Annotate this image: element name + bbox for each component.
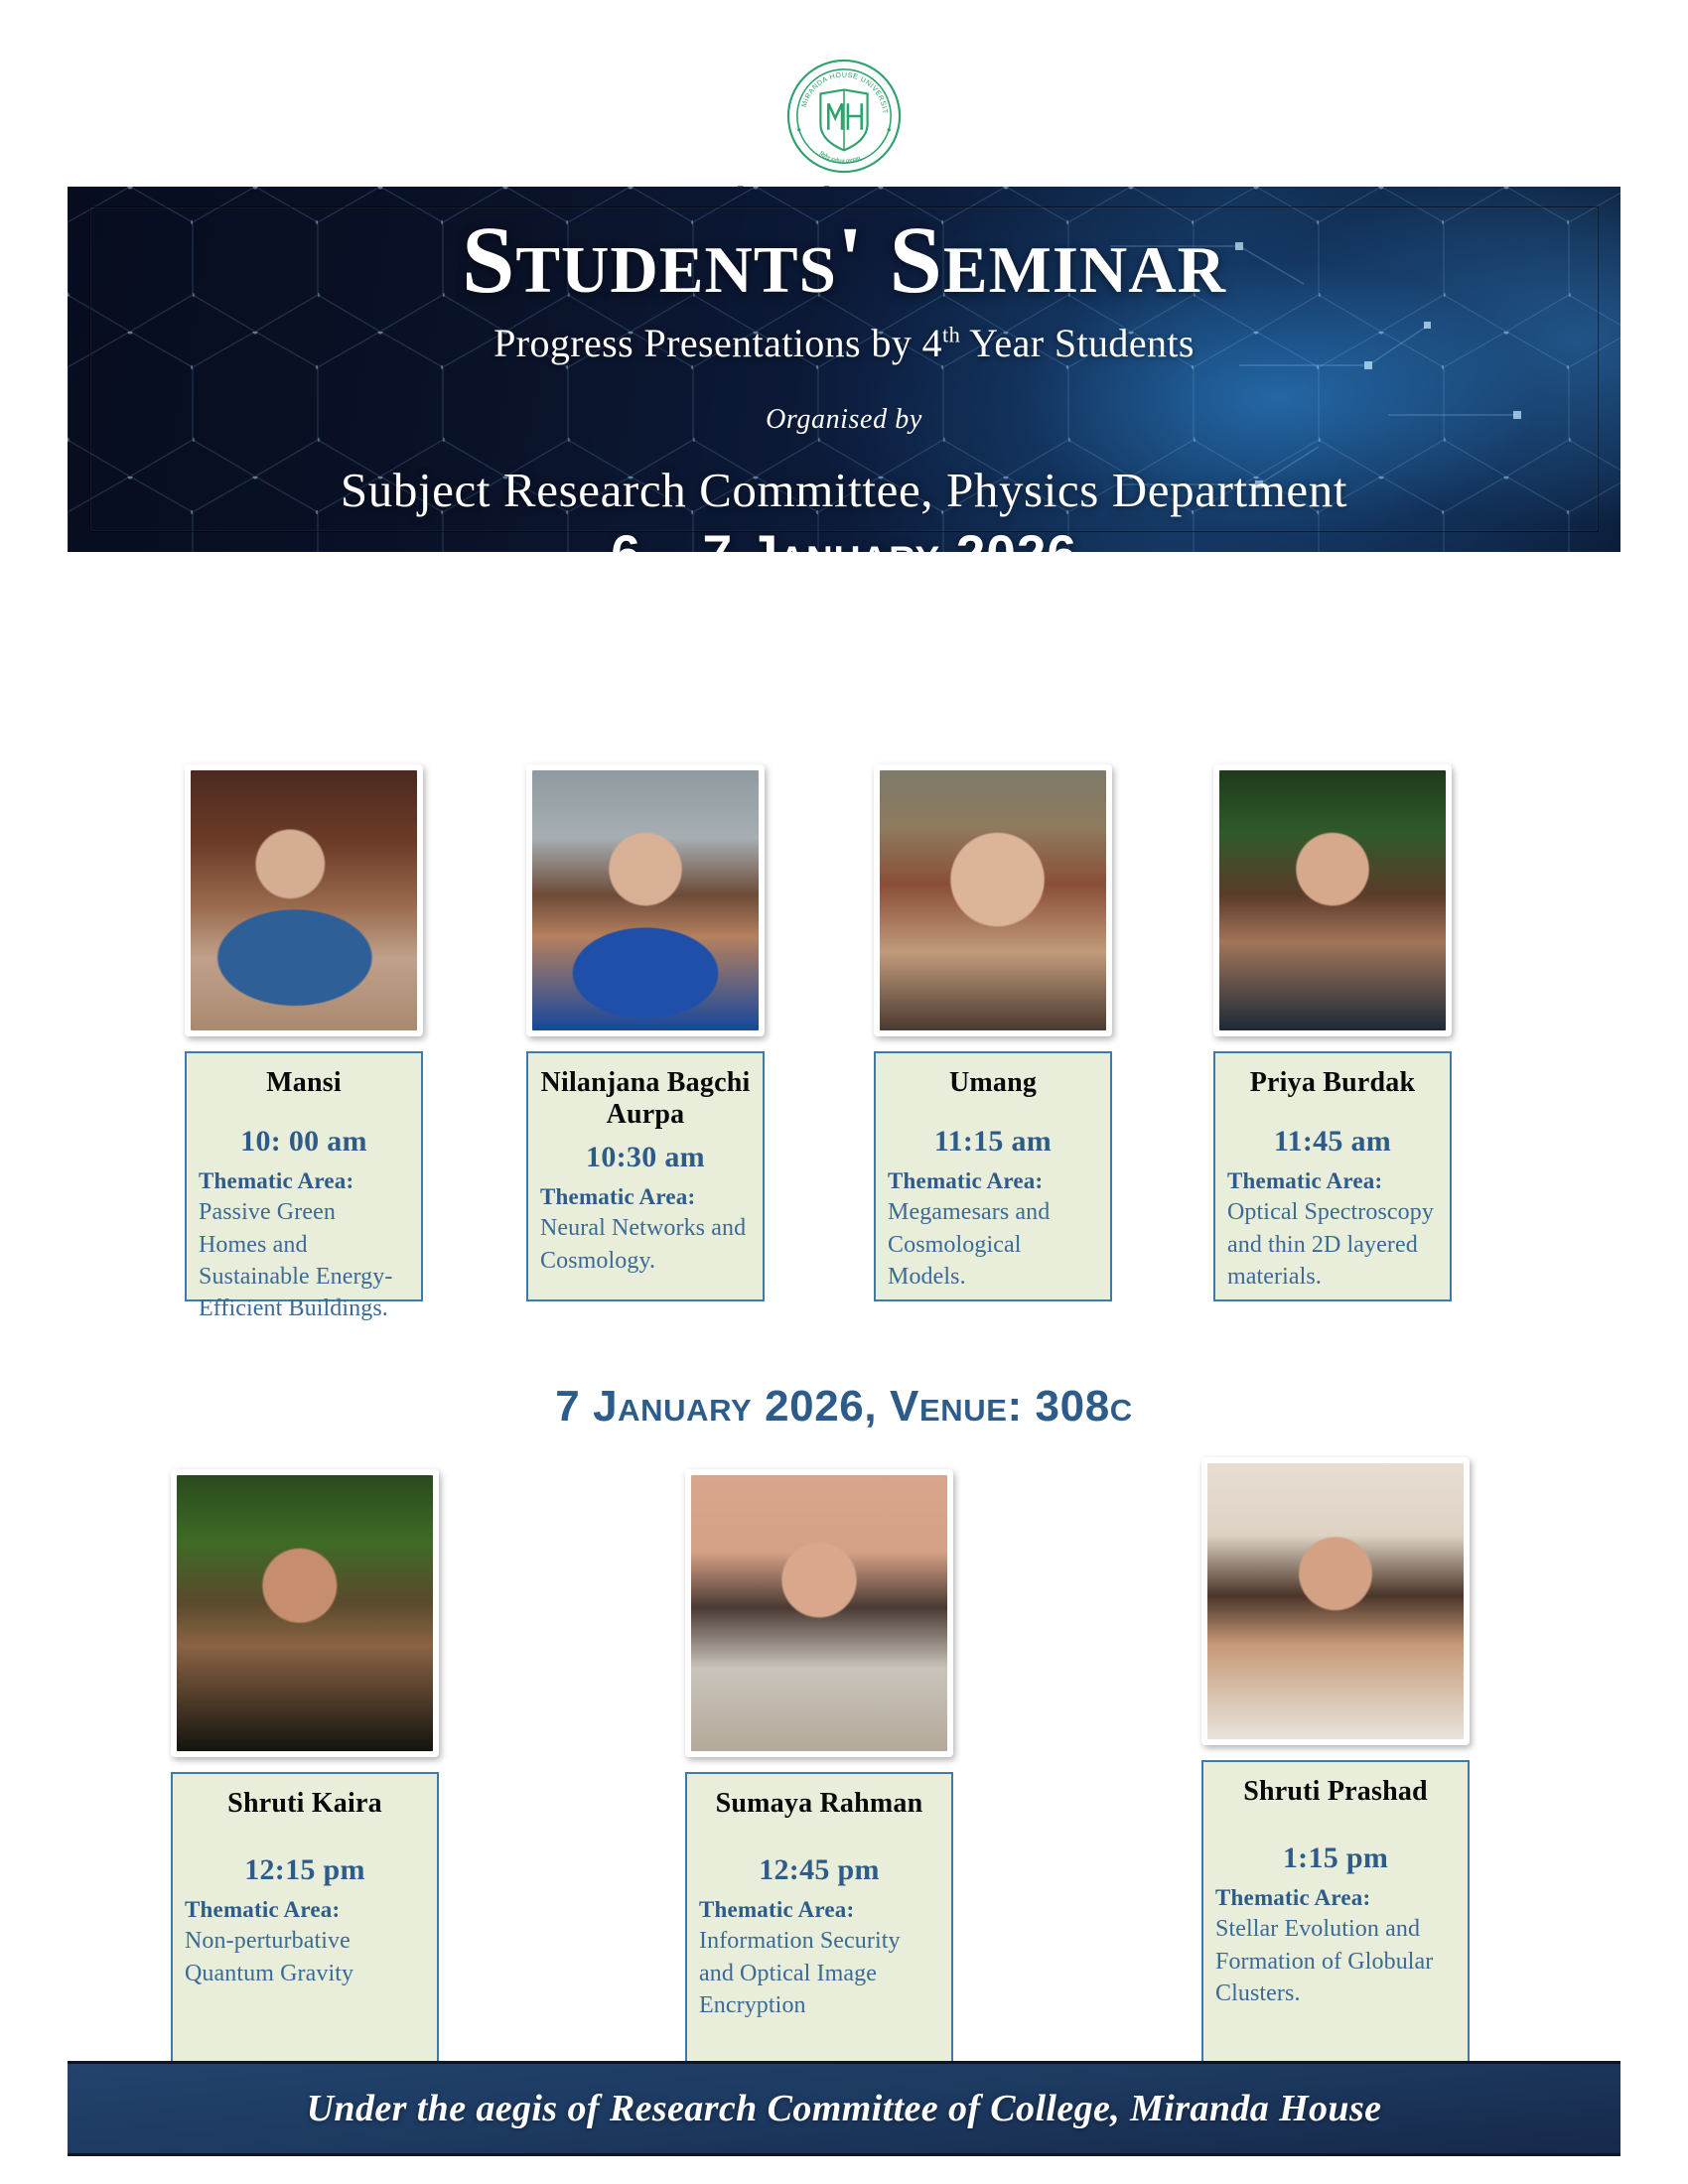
- thematic-area-label: Thematic Area:: [199, 1168, 409, 1194]
- title-banner: Students' Seminar Progress Presentations…: [68, 187, 1620, 552]
- speaker-time: 10: 00 am: [199, 1125, 409, 1159]
- speaker-info-card: Umang 11:15 am Thematic Area: Megamesars…: [874, 1051, 1112, 1301]
- speaker-photo: [880, 770, 1106, 1030]
- speaker-slot-priya: Priya Burdak 11:45 am Thematic Area: Opt…: [1213, 764, 1452, 1301]
- speaker-slot-shruti-prashad: Shruti Prashad 1:15 pm Thematic Area: St…: [1201, 1457, 1470, 2064]
- speaker-photo: [691, 1475, 947, 1751]
- thematic-area-label: Thematic Area:: [1215, 1885, 1456, 1911]
- poster-footer: Under the aegis of Research Committee of…: [68, 2061, 1620, 2156]
- speaker-slot-sumaya: Sumaya Rahman 12:45 pm Thematic Area: In…: [685, 1469, 953, 2076]
- subtitle-ordinal: th: [942, 323, 960, 347]
- speaker-name: Shruti Prashad: [1215, 1776, 1456, 1808]
- thematic-area-text: Neural Networks and Cosmology.: [540, 1212, 751, 1277]
- speaker-info-card: Priya Burdak 11:45 am Thematic Area: Opt…: [1213, 1051, 1452, 1301]
- thematic-area-text: Optical Spectroscopy and thin 2D layered…: [1227, 1196, 1438, 1293]
- speaker-photo: [191, 770, 417, 1030]
- photo-frame: [1213, 764, 1452, 1036]
- speaker-name: Shruti Kaira: [185, 1788, 425, 1820]
- svg-text:MIRANDA HOUSE UNIVERSITY OF DE: MIRANDA HOUSE UNIVERSITY OF DELHI: [785, 58, 889, 114]
- speaker-time: 12:45 pm: [699, 1853, 939, 1887]
- day2-heading: 7 January 2026, Venue: 308c: [0, 1382, 1688, 1432]
- thematic-area-label: Thematic Area:: [185, 1897, 425, 1923]
- speaker-info-card: Shruti Prashad 1:15 pm Thematic Area: St…: [1201, 1760, 1470, 2064]
- thematic-area-text: Non-perturbative Quantum Gravity: [185, 1925, 425, 1989]
- speaker-time: 1:15 pm: [1215, 1842, 1456, 1875]
- speaker-info-card: Mansi 10: 00 am Thematic Area: Passive G…: [185, 1051, 423, 1301]
- photo-frame: [1201, 1457, 1470, 1745]
- speaker-info-card: Nilanjana Bagchi Aurpa 10:30 am Thematic…: [526, 1051, 765, 1301]
- speaker-name: Sumaya Rahman: [699, 1788, 939, 1820]
- speaker-name: Priya Burdak: [1227, 1067, 1438, 1099]
- speaker-time: 12:15 pm: [185, 1853, 425, 1887]
- speaker-photo: [177, 1475, 433, 1751]
- footer-text: Under the aegis of Research Committee of…: [307, 2087, 1382, 2130]
- speaker-slot-shruti-kaira: Shruti Kaira 12:15 pm Thematic Area: Non…: [171, 1469, 439, 2076]
- thematic-area-text: Passive Green Homes and Sustainable Ener…: [199, 1196, 409, 1325]
- photo-frame: [171, 1469, 439, 1757]
- speaker-slot-mansi: Mansi 10: 00 am Thematic Area: Passive G…: [185, 764, 423, 1301]
- speaker-name: Nilanjana Bagchi Aurpa: [540, 1067, 751, 1131]
- speaker-time: 11:15 am: [888, 1125, 1098, 1159]
- event-dates: 6 – 7 January 2026: [68, 524, 1620, 552]
- speaker-info-card: Sumaya Rahman 12:45 pm Thematic Area: In…: [685, 1772, 953, 2076]
- seminar-subtitle: Progress Presentations by 4th Year Stude…: [68, 320, 1620, 366]
- speaker-name: Mansi: [199, 1067, 409, 1099]
- thematic-area-text: Stellar Evolution and Formation of Globu…: [1215, 1913, 1456, 2009]
- subtitle-suffix: Year Students: [960, 321, 1195, 365]
- speaker-time: 11:45 am: [1227, 1125, 1438, 1159]
- photo-frame: [185, 764, 423, 1036]
- seminar-title: Students' Seminar: [68, 212, 1620, 308]
- organiser-name: Subject Research Committee, Physics Depa…: [68, 462, 1620, 518]
- speaker-photo: [1207, 1463, 1464, 1739]
- speaker-info-card: Shruti Kaira 12:15 pm Thematic Area: Non…: [171, 1772, 439, 2076]
- thematic-area-text: Megamesars and Cosmological Models.: [888, 1196, 1098, 1293]
- thematic-area-label: Thematic Area:: [699, 1897, 939, 1923]
- speaker-slot-umang: Umang 11:15 am Thematic Area: Megamesars…: [874, 764, 1112, 1301]
- speaker-photo: [1219, 770, 1446, 1030]
- miranda-house-seal-icon: MIRANDA HOUSE UNIVERSITY OF DELHI विद्यै…: [785, 58, 903, 175]
- thematic-area-text: Information Security and Optical Image E…: [699, 1925, 939, 2021]
- organised-by-label: Organised by: [68, 404, 1620, 436]
- speaker-slot-nilanjana: Nilanjana Bagchi Aurpa 10:30 am Thematic…: [526, 764, 765, 1301]
- thematic-area-label: Thematic Area:: [540, 1184, 751, 1210]
- speaker-time: 10:30 am: [540, 1141, 751, 1174]
- photo-frame: [685, 1469, 953, 1757]
- svg-text:विद्यैव सर्वधनं प्रधानम्: विद्यैव सर्वधनं प्रधानम्: [817, 150, 862, 166]
- speaker-name: Umang: [888, 1067, 1098, 1099]
- subtitle-prefix: Progress Presentations by 4: [493, 321, 942, 365]
- thematic-area-label: Thematic Area:: [1227, 1168, 1438, 1194]
- photo-frame: [874, 764, 1112, 1036]
- photo-frame: [526, 764, 765, 1036]
- thematic-area-label: Thematic Area:: [888, 1168, 1098, 1194]
- speaker-photo: [532, 770, 759, 1030]
